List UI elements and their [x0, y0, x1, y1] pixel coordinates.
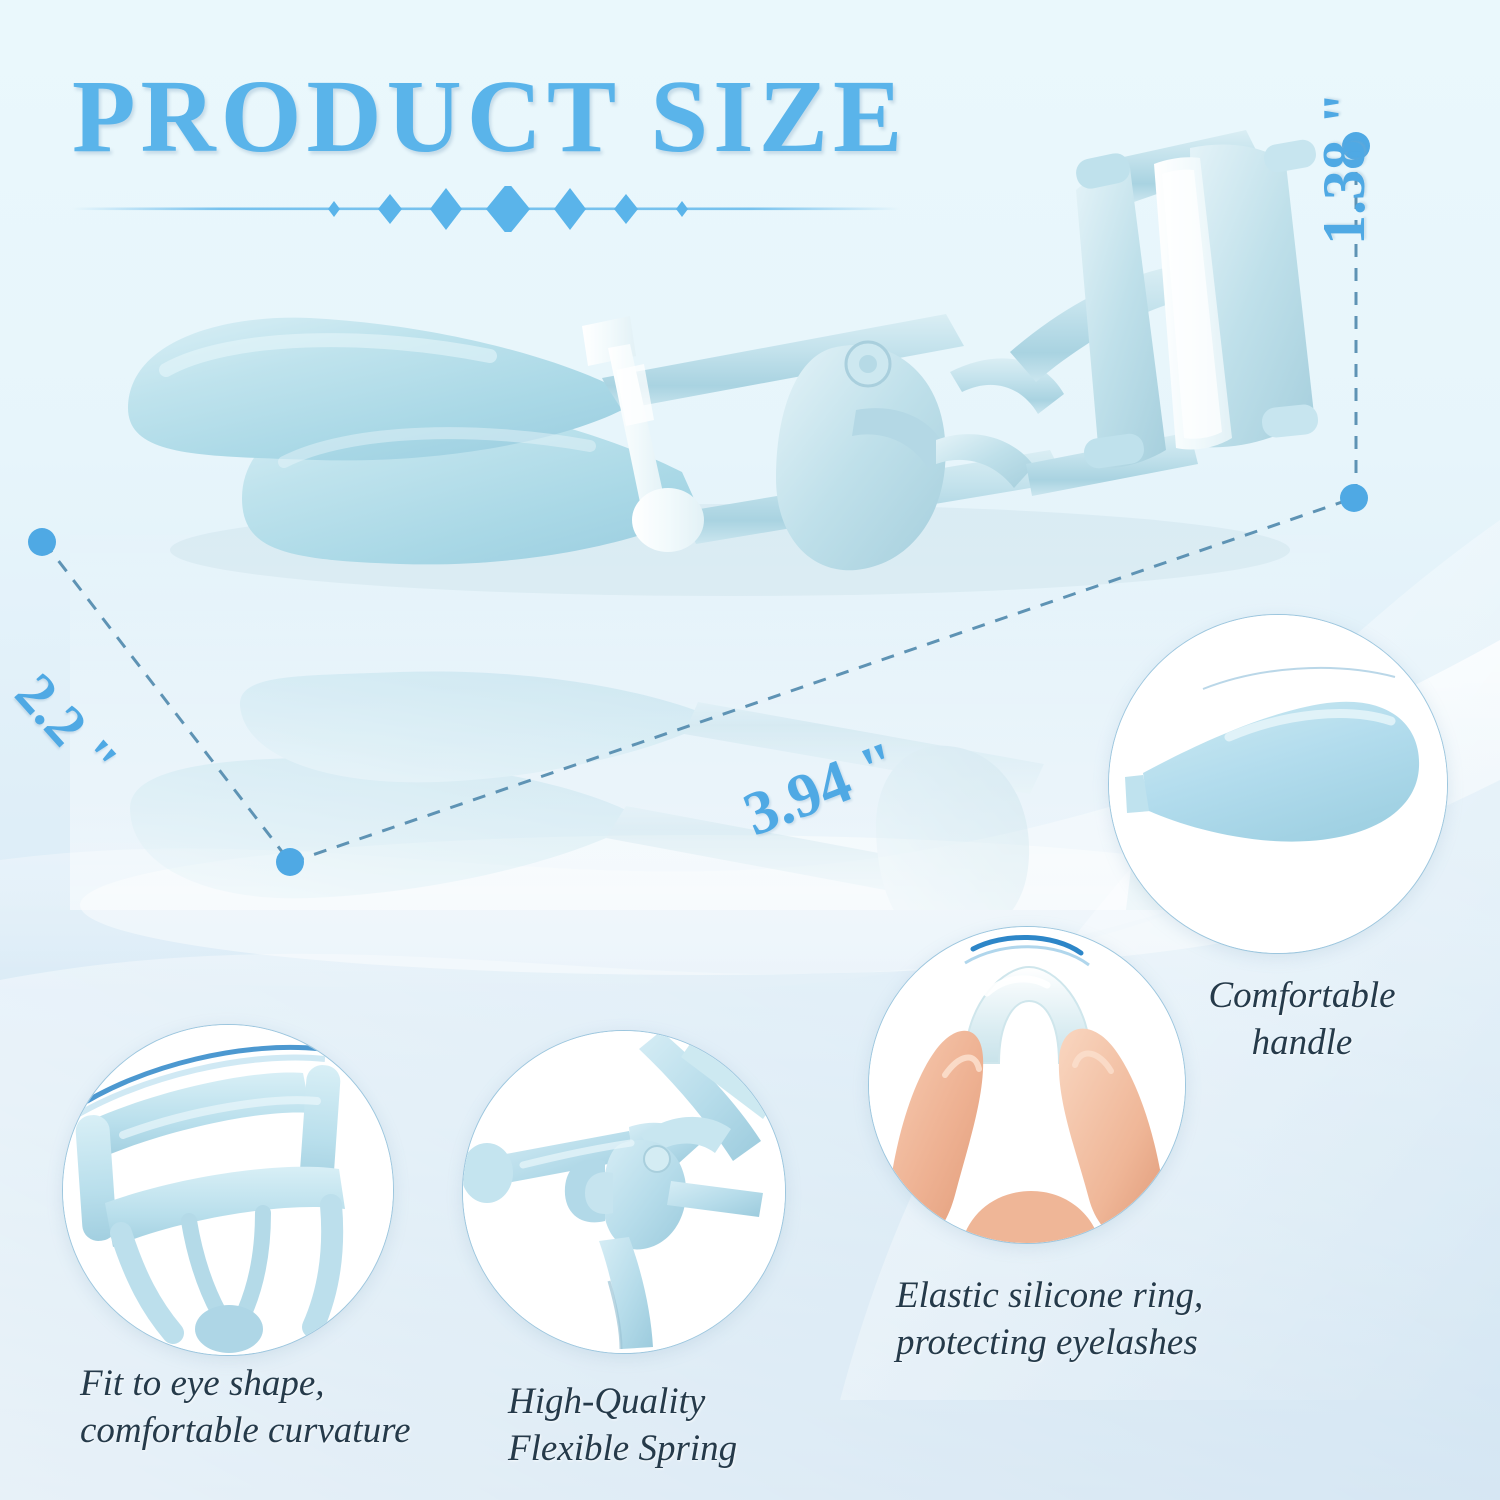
feature-caption-silicone-ring: Elastic silicone ring, protecting eyelas…	[896, 1272, 1336, 1367]
caption-line-2: handle	[1152, 1019, 1452, 1066]
caption-line-1: High-Quality	[508, 1378, 838, 1425]
caption-line-2: protecting eyelashes	[896, 1319, 1336, 1366]
feature-inset-silicone-ring[interactable]	[868, 926, 1186, 1244]
feature-inset-comfortable-handle[interactable]	[1108, 614, 1448, 954]
dimension-label-height: 1.38 "	[1310, 92, 1379, 245]
feature-caption-flexible-spring: High-Quality Flexible Spring	[508, 1378, 838, 1473]
caption-line-2: Flexible Spring	[508, 1425, 838, 1472]
feature-inset-flexible-spring[interactable]	[462, 1030, 786, 1354]
caption-line-1: Fit to eye shape,	[80, 1360, 500, 1407]
curler-head-photo-icon	[63, 1025, 393, 1355]
infographic-root: PRODUCT SIZE	[0, 0, 1500, 1500]
silicone-ring-in-fingers-photo-icon	[869, 927, 1185, 1243]
feature-caption-eye-shape: Fit to eye shape, comfortable curvature	[80, 1360, 500, 1455]
feature-caption-comfortable-handle: Comfortable handle	[1152, 972, 1452, 1067]
caption-line-1: Elastic silicone ring,	[896, 1272, 1336, 1319]
caption-line-2: comfortable curvature	[80, 1407, 500, 1454]
caption-line-1: Comfortable	[1152, 972, 1452, 1019]
handle-closeup-photo-icon	[1109, 615, 1447, 953]
feature-inset-eye-shape[interactable]	[62, 1024, 394, 1356]
spring-mechanism-photo-icon	[463, 1031, 785, 1353]
